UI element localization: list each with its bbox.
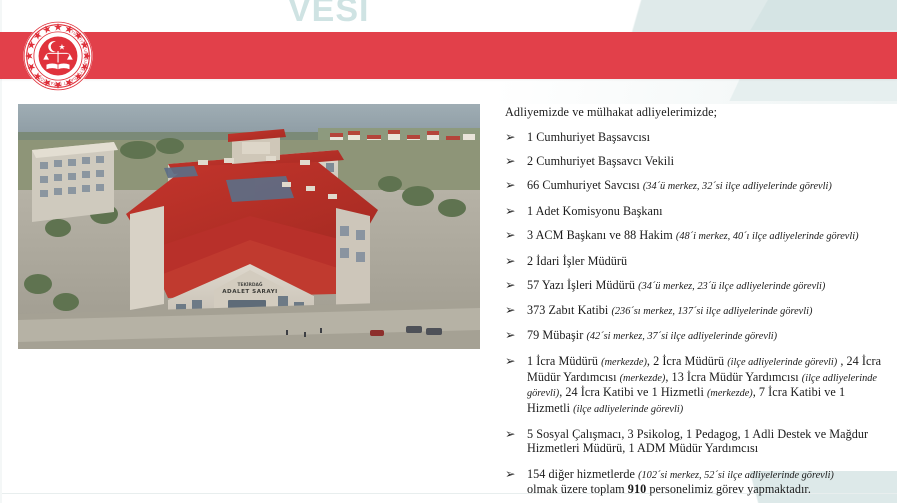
arrow-bullet-icon: ➢ [505,426,516,442]
list-item-label: 3 ACM Başkanı ve 88 Hakim [527,228,673,242]
intro-text: Adliyemizde ve mülhakat adliyelerimizde; [505,105,885,120]
total-lead-text: 154 diğer hizmetlerde [527,467,638,481]
courthouse-aerial-photo: TEKİRDAĞ ADALET SARAYI [18,104,480,349]
header-red-banner [0,32,897,79]
icra-text-segment: , 13 İcra Müdür Yardımcısı [665,370,801,384]
svg-text:ADALET SARAYI: ADALET SARAYI [222,289,278,295]
list-item-destek-personeli: ➢ 5 Sosyal Çalışmacı, 3 Psikolog, 1 Peda… [505,427,885,457]
arrow-bullet-icon: ➢ [505,353,516,369]
list-item-icra-personeli: ➢ 1 İcra Müdürü (merkezde), 2 İcra Müdür… [505,354,885,416]
list-item-label: 1 Adet Komisyonu Başkanı [527,204,663,218]
total-tail-after: personelimiz görev yapmaktadır. [646,482,811,496]
icra-text-segment: , 2 İcra Müdürü [647,354,727,368]
content-column: Adliyemizde ve mülhakat adliyelerimizde;… [505,105,885,503]
list-item-label: 373 Zabıt Katibi [527,303,608,317]
arrow-bullet-icon: ➢ [505,177,516,193]
icra-note-segment: (ilçe adliyelerinde görevli) [727,357,837,368]
arrow-bullet-icon: ➢ [505,466,516,482]
total-note: (102´si merkez, 52´si ilçe adliyelerinde… [638,470,834,481]
list-item-label: 2 Cumhuriyet Başsavcı Vekili [527,154,674,168]
svg-text:TEKİRDAĞ: TEKİRDAĞ [237,281,262,288]
top-right-triangle-shape-2 [647,0,897,30]
background-watermark-text: VESİ [288,0,369,30]
under-banner-band [0,78,897,104]
list-item-bassavci-vekili: ➢ 2 Cumhuriyet Başsavcı Vekili [505,154,885,169]
list-item-adalet-komisyonu-baskani: ➢ 1 Adet Komisyonu Başkanı [505,204,885,219]
arrow-bullet-icon: ➢ [505,227,516,243]
list-item-idari-isler-muduru: ➢ 2 İdari İşler Müdürü [505,254,885,269]
list-item-note: (48´i merkez, 40´ı ilçe adliyelerinde gö… [676,231,859,242]
list-item-label: 2 İdari İşler Müdürü [527,254,627,268]
total-personnel-count: 910 [628,482,646,496]
list-item-label: 5 Sosyal Çalışmacı, 3 Psikolog, 1 Pedago… [527,427,868,456]
arrow-bullet-icon: ➢ [505,327,516,343]
icra-note-segment: (ilçe adliyelerinde görevli) [573,404,683,415]
list-item-label: 79 Mübaşir [527,328,583,342]
list-item-acm-baskani-hakim: ➢ 3 ACM Başkanı ve 88 Hakim (48´i merkez… [505,228,885,243]
list-item-label: 1 İcra Müdürü (merkezde), 2 İcra Müdürü … [527,354,881,414]
list-item-zabit-katibi: ➢ 373 Zabıt Katibi (236´sı merkez, 137´s… [505,303,885,318]
list-item-note: (42´si merkez, 37´si ilçe adliyelerinde … [586,331,777,342]
top-right-triangle-shape [477,0,897,34]
slide-canvas: VESİ [0,0,897,503]
list-item-label: 57 Yazı İşleri Müdürü [527,278,635,292]
list-item-note: (34´ü merkez, 23´ü ilçe adliyelerinde gö… [638,281,825,292]
arrow-bullet-icon: ➢ [505,153,516,169]
icra-note-segment: (merkezde) [707,388,753,399]
icra-text-segment: , 24 İcra Katibi ve 1 Hizmetli [559,385,707,399]
personnel-list: ➢ 1 Cumhuriyet Başsavcısı ➢ 2 Cumhuriyet… [505,130,885,497]
icra-text-segment: 1 İcra Müdürü [527,354,601,368]
list-item-bassavci: ➢ 1 Cumhuriyet Başsavcısı [505,130,885,145]
icra-note-segment: (merkezde) [601,357,647,368]
arrow-bullet-icon: ➢ [505,277,516,293]
icra-note-segment: (merkezde) [620,373,666,384]
list-item-label: 1 Cumhuriyet Başsavcısı [527,130,650,144]
arrow-bullet-icon: ➢ [505,253,516,269]
arrow-bullet-icon: ➢ [505,302,516,318]
list-item-note: (34´ü merkez, 32´si ilçe adliyelerinde g… [643,181,832,192]
list-item-savci: ➢ 66 Cumhuriyet Savcısı (34´ü merkez, 32… [505,178,885,193]
turkish-ministry-of-justice-emblem-icon: ★ TÜRKİYE CUMHURİYETİ ADALET BAKANLIĞI [22,20,94,92]
total-tail-before: olmak üzere toplam [527,482,628,496]
list-item-yazi-isleri-muduru: ➢ 57 Yazı İşleri Müdürü (34´ü merkez, 23… [505,278,885,293]
arrow-bullet-icon: ➢ [505,203,516,219]
arrow-bullet-icon: ➢ [505,129,516,145]
list-item-mubasir: ➢ 79 Mübaşir (42´si merkez, 37´si ilçe a… [505,328,885,343]
list-item-toplam-personel: ➢ 154 diğer hizmetlerde (102´si merkez, … [505,467,885,497]
right-accent-strip [667,79,897,101]
list-item-note: (236´sı merkez, 137´si ilçe adliyelerind… [611,306,812,317]
list-item-label: 66 Cumhuriyet Savcısı [527,178,640,192]
